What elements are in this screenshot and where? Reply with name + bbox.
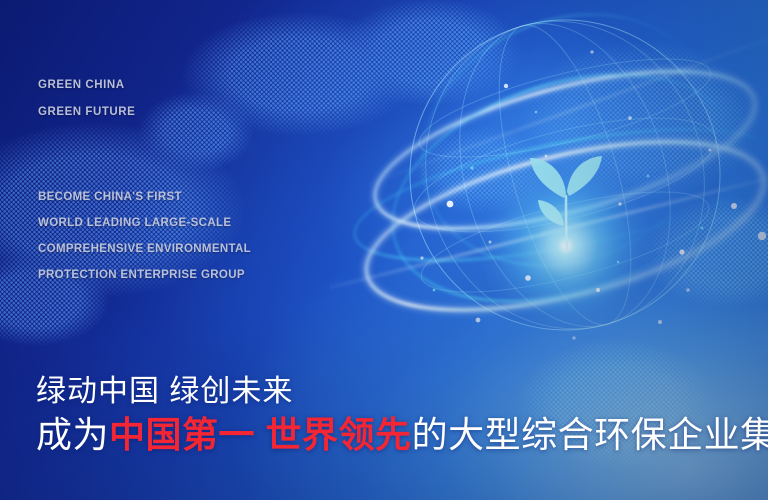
- chinese-headline-1: 绿动中国 绿创未来: [36, 372, 768, 412]
- banner-root: GREEN CHINA GREEN FUTURE BECOME CHINA'S …: [0, 0, 768, 500]
- headline-highlight-1: 中国第一: [109, 414, 255, 455]
- english-tagline: GREEN CHINA GREEN FUTURE: [38, 72, 135, 126]
- statement-line-2: WORLD LEADING LARGE-SCALE: [38, 210, 251, 236]
- chinese-headline-2: 成为中国第一 世界领先的大型综合环保企业集团: [36, 412, 768, 458]
- wireframe-globe: [330, 0, 768, 390]
- tagline-line-2: GREEN FUTURE: [38, 99, 135, 126]
- headline-prefix: 成为: [36, 414, 109, 455]
- statement-line-1: BECOME CHINA'S FIRST: [38, 184, 251, 210]
- headline-highlight-2: 世界领先: [266, 414, 412, 455]
- english-statement: BECOME CHINA'S FIRST WORLD LEADING LARGE…: [38, 184, 251, 288]
- chinese-headline-block: 绿动中国 绿创未来 成为中国第一 世界领先的大型综合环保企业集团: [36, 372, 768, 458]
- headline-separator: [255, 414, 266, 455]
- statement-line-4: PROTECTION ENTERPRISE GROUP: [38, 262, 251, 288]
- tagline-line-1: GREEN CHINA: [38, 72, 135, 99]
- headline-suffix: 的大型综合环保企业集团: [412, 414, 768, 455]
- statement-line-3: COMPREHENSIVE ENVIRONMENTAL: [38, 236, 251, 262]
